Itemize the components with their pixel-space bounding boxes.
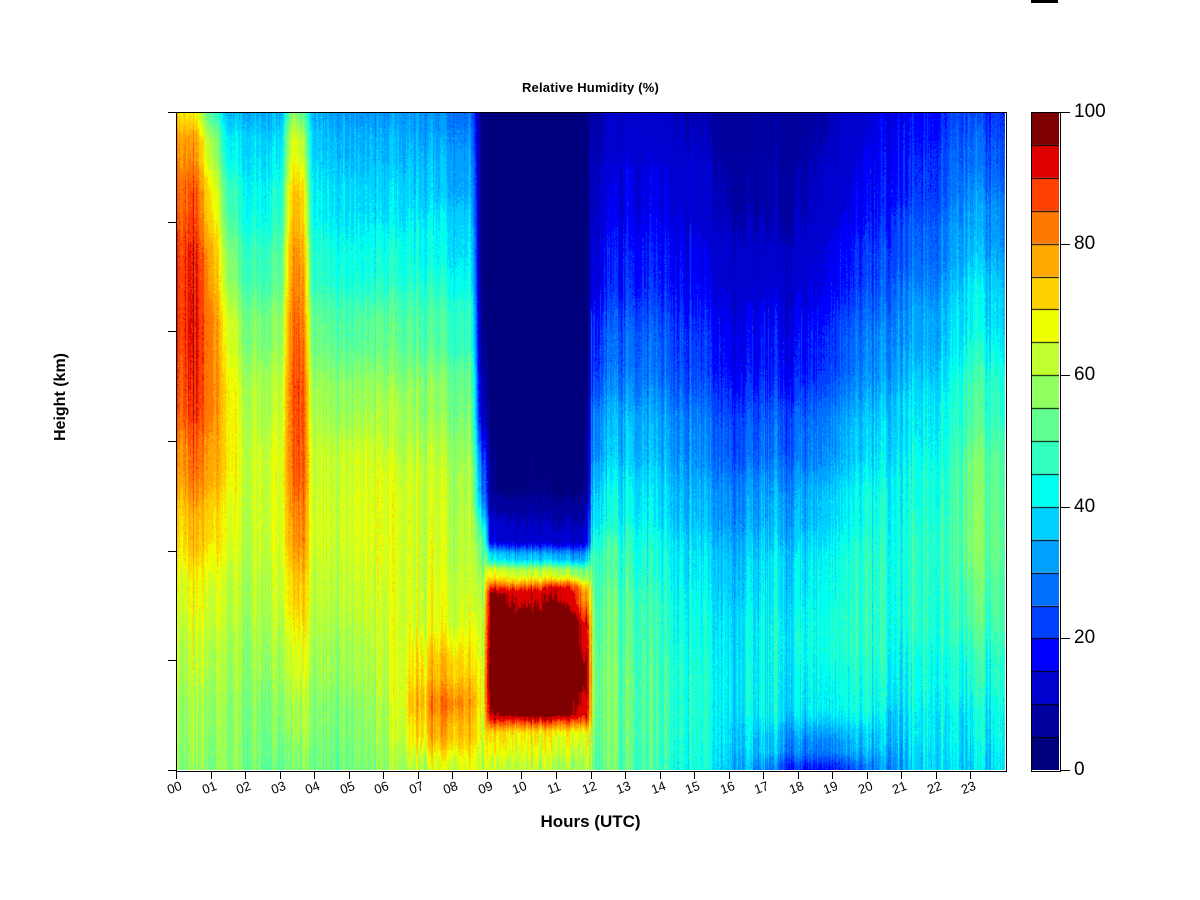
y-axis-tick-mark: [168, 441, 176, 442]
colorbar-tick-label: 80: [1074, 233, 1095, 255]
x-axis-tick-label: 02: [234, 778, 253, 797]
y-axis-tick-mark: [168, 222, 176, 223]
relative-humidity-heatmap-canvas: [176, 112, 1005, 770]
colorbar-tick-mark: [1061, 112, 1070, 113]
chart-title: Relative Humidity (%): [176, 80, 1005, 95]
heatmap-plot-area: [176, 112, 1005, 770]
colorbar-tick-label: 0: [1074, 759, 1085, 781]
y-axis-title: Height (km): [52, 353, 70, 441]
x-axis-tick-label: 10: [510, 778, 529, 797]
x-axis-tick-label: 16: [718, 778, 737, 797]
x-axis-tick-label: 23: [959, 778, 978, 797]
colorbar-tick-label: 40: [1074, 496, 1095, 518]
x-axis-tick-label: 12: [580, 778, 599, 797]
colorbar: [1031, 112, 1059, 770]
y-axis-tick-mark: [168, 770, 176, 771]
y-axis-tick-mark: [168, 551, 176, 552]
x-axis-tick-label: 13: [614, 778, 633, 797]
x-axis-tick-label: 14: [649, 778, 668, 797]
x-axis-tick-label: 19: [821, 778, 840, 797]
x-axis-tick-label: 04: [303, 778, 322, 797]
colorbar-tick-label: 100: [1074, 101, 1106, 123]
y-axis-tick-mark: [168, 660, 176, 661]
x-axis-tick-label: 21: [890, 778, 909, 797]
x-axis-tick-label: 20: [856, 778, 875, 797]
colorbar-tick-label: 60: [1074, 364, 1095, 386]
x-axis-tick-label: 22: [925, 778, 944, 797]
x-axis-tick-label: 03: [269, 778, 288, 797]
colorbar-tick-mark: [1061, 770, 1070, 771]
colorbar-tick-mark: [1061, 244, 1070, 245]
x-axis-tick-label: 00: [165, 778, 184, 797]
top-edge-artifact: [1031, 0, 1058, 3]
y-axis-tick-mark: [168, 112, 176, 113]
colorbar-tick-label: 20: [1074, 627, 1095, 649]
x-axis-tick-label: 06: [372, 778, 391, 797]
x-axis-tick-label: 17: [752, 778, 771, 797]
x-axis-tick-label: 15: [683, 778, 702, 797]
colorbar-gradient: [1031, 112, 1059, 770]
x-axis-tick-label: 08: [441, 778, 460, 797]
y-axis-tick-mark: [168, 331, 176, 332]
x-axis-tick-label: 09: [476, 778, 495, 797]
x-axis-title: Hours (UTC): [176, 812, 1005, 832]
x-axis-tick-label: 01: [200, 778, 219, 797]
x-axis-tick-label: 05: [338, 778, 357, 797]
colorbar-tick-mark: [1061, 375, 1070, 376]
colorbar-tick-mark: [1061, 507, 1070, 508]
relative-humidity-time-height-figure: Relative Humidity (%) 0.00.51.01.52.02.5…: [0, 0, 1200, 900]
x-axis-tick-label: 11: [545, 778, 563, 797]
colorbar-tick-mark: [1061, 638, 1070, 639]
x-axis-tick-label: 18: [787, 778, 806, 797]
x-axis-tick-label: 07: [407, 778, 426, 797]
